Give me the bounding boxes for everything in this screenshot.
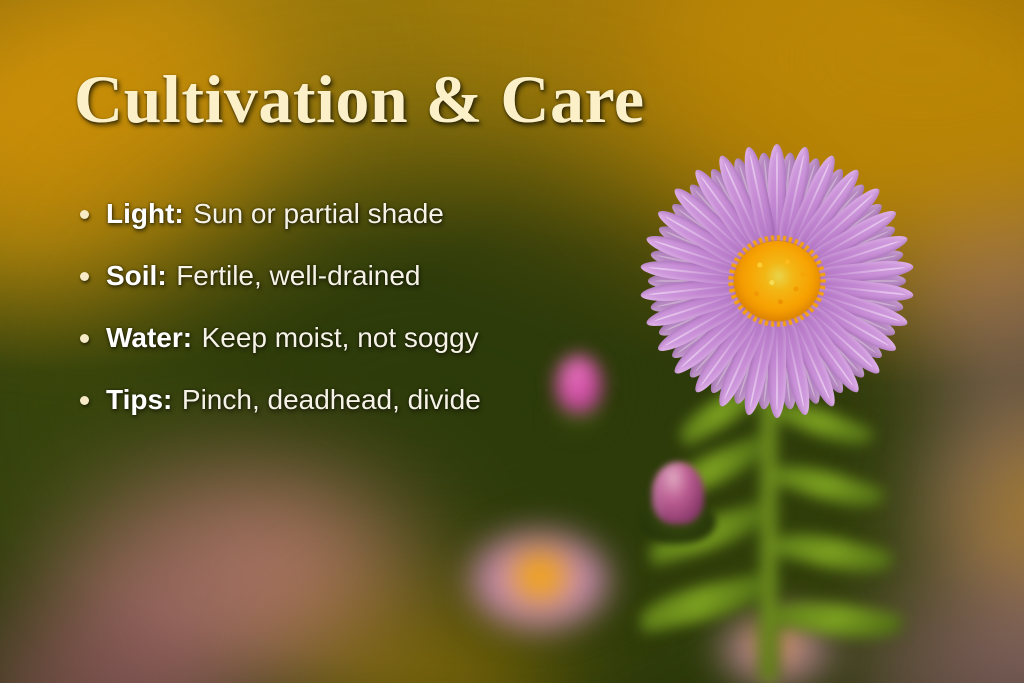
bokeh-blob-pink-right-2 — [915, 390, 1024, 600]
care-bullet-text: Sun or partial shade — [193, 198, 444, 230]
care-bullet-item: Soil:Fertile, well-drained — [74, 245, 481, 307]
flower-stem — [758, 380, 780, 683]
bokeh-blob-salmon-bottom — [190, 480, 430, 660]
bullet-dot-icon — [80, 396, 89, 405]
leaf — [772, 524, 894, 582]
leaf — [636, 573, 770, 633]
bokeh-blob-pink-bottom-left-2 — [0, 600, 230, 683]
leaf — [774, 593, 904, 646]
care-bullet-label: Soil: — [106, 260, 167, 292]
care-bullet-text: Pinch, deadhead, divide — [182, 384, 481, 416]
background-daisy-disc — [512, 551, 568, 601]
bullet-dot-icon — [80, 272, 89, 281]
aster-disc-texture — [734, 241, 820, 321]
bokeh-blob-pink-bottom-left — [60, 470, 360, 683]
bokeh-blob-gold-right — [965, 430, 1024, 620]
page-title: Cultivation & Care — [74, 60, 645, 139]
care-bullet-item: Light:Sun or partial shade — [74, 183, 481, 245]
slide-canvas: Cultivation & Care Light:Sun or partial … — [0, 0, 1024, 683]
stem-with-leaves — [590, 380, 920, 683]
care-bullet-list: Light:Sun or partial shadeSoil:Fertile, … — [74, 183, 481, 431]
bullet-dot-icon — [80, 210, 89, 219]
care-bullet-text: Fertile, well-drained — [176, 260, 420, 292]
care-bullet-item: Tips:Pinch, deadhead, divide — [74, 369, 481, 431]
care-bullet-text: Keep moist, not soggy — [202, 322, 479, 354]
bokeh-blob-pink-bottom-right — [1000, 560, 1024, 683]
care-bullet-item: Water:Keep moist, not soggy — [74, 307, 481, 369]
leaf — [770, 455, 885, 516]
care-bullet-label: Light: — [106, 198, 184, 230]
aster-center-disc — [734, 241, 820, 321]
flower-bud-upper — [556, 355, 602, 413]
care-bullet-label: Water: — [106, 322, 192, 354]
care-bullet-label: Tips: — [106, 384, 172, 416]
bullet-dot-icon — [80, 334, 89, 343]
flower-bud-lower — [652, 462, 704, 524]
